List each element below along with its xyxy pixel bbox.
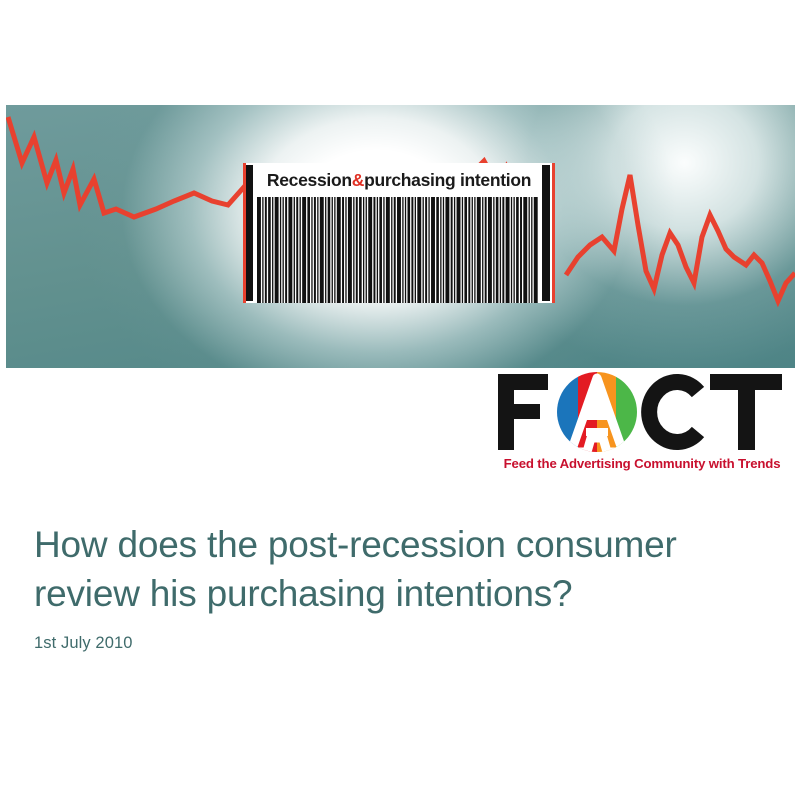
fact-letter-f [498,374,548,450]
barcode-bar [379,197,382,303]
barcode-bar [405,197,406,303]
barcode-bar [296,197,298,303]
slide-date: 1st July 2010 [34,634,764,653]
barcode-bar [474,197,475,303]
barcode-bar [407,197,410,303]
barcode-title-label: Recession & purchasing intention [243,163,555,197]
barcode-bar [436,197,439,303]
barcode-graphic: Recession & purchasing intention [243,163,555,303]
barcode-bar [534,197,538,303]
barcode-bar [294,197,295,303]
barcode-bar [520,197,522,303]
barcode-bar [457,197,461,303]
barcode-title-prefix: Recession [267,170,352,191]
barcode-bar [516,197,519,303]
barcode-bar [307,197,310,303]
barcode-bar [529,197,530,303]
barcode-bar [425,197,427,303]
barcode-bar [359,197,362,303]
barcode-bar [302,197,306,303]
barcode-bar [500,197,501,303]
barcode-bar [445,197,449,303]
barcode-bar [268,197,271,303]
title-block: How does the post-recession consumer rev… [34,520,764,653]
fact-letter-t [710,374,782,450]
barcode-bar [451,197,453,303]
barcode-bar [397,197,401,303]
fact-logo: Feed the Advertising Community with Tren… [492,368,792,478]
barcode-bar [417,197,421,303]
barcode-bar [383,197,384,303]
barcode-bar [314,197,316,303]
barcode-bar [283,197,284,303]
trend-line-right [566,175,795,301]
barcode-title-ampersand: & [352,170,364,191]
barcode-bar [311,197,312,303]
barcode-bar [257,197,261,303]
barcode-bar [342,197,344,303]
barcode-bar [300,197,301,303]
barcode-bar [265,197,267,303]
barcode-bar [394,197,396,303]
barcode-bar [443,197,444,303]
fact-letter-a-mark [557,372,638,452]
fact-tagline: Feed the Advertising Community with Tren… [492,456,792,471]
barcode-bar [502,197,504,303]
barcode-bar [488,197,492,303]
barcode-bar [373,197,375,303]
barcode-bar [332,197,333,303]
barcode-bar [477,197,481,303]
barcode-bar [411,197,413,303]
barcode-bar [334,197,335,303]
barcode-bar [275,197,279,303]
barcode-bar [363,197,364,303]
barcode-bars [243,197,555,303]
barcode-bar [531,197,532,303]
barcode-bar [472,197,473,303]
barcode-bar [428,197,429,303]
barcode-bar [262,197,263,303]
barcode-bar [415,197,416,303]
barcode-bar [353,197,354,303]
barcode-bar [482,197,483,303]
barcode-bar [348,197,352,303]
barcode-bar [328,197,331,303]
fact-wordmark [492,368,792,454]
barcode-bar [485,197,487,303]
barcode-bar [288,197,292,303]
barcode-bar [454,197,455,303]
barcode-bar [423,197,424,303]
barcode-title-suffix: purchasing intention [364,170,531,191]
barcode-bar [337,197,341,303]
barcode-bar [523,197,527,303]
barcode-bar [468,197,470,303]
barcode-bar [272,197,273,303]
barcode-bars-svg [243,197,555,303]
barcode-bar [280,197,281,303]
barcode-bar [356,197,358,303]
barcode-bar [440,197,441,303]
barcode-bar [386,197,390,303]
barcode-bar [317,197,318,303]
barcode-bar [431,197,435,303]
slide-root: Recession & purchasing intention [0,0,800,800]
barcode-bar [402,197,403,303]
barcode-bar [345,197,346,303]
page-title: How does the post-recession consumer rev… [34,520,764,618]
barcode-bar [496,197,499,303]
barcode-bar [320,197,324,303]
barcode-bar [366,197,367,303]
barcode-bar [285,197,287,303]
barcode-bar [464,197,467,303]
barcode-bar [377,197,378,303]
barcode-bar [511,197,512,303]
barcode-bar [462,197,463,303]
barcode-bar [493,197,494,303]
barcode-bar [506,197,510,303]
barcode-bar [325,197,326,303]
barcode-bar [391,197,392,303]
barcode-bar [368,197,372,303]
barcode-bar [513,197,514,303]
fact-letter-c [649,382,698,442]
